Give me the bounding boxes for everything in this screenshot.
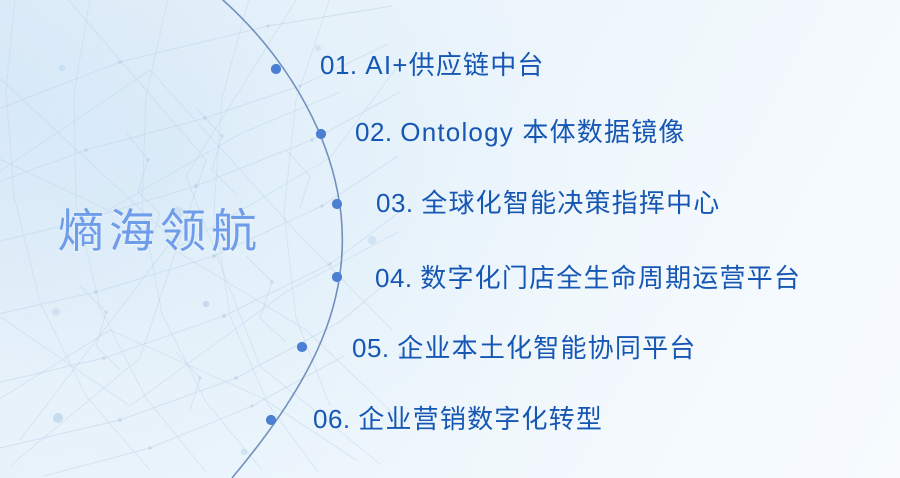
list-item[interactable]: 04. 数字化门店全生命周期运营平台 [375, 265, 801, 291]
list-item[interactable]: 03. 全球化智能决策指挥中心 [376, 190, 720, 216]
list-item[interactable]: 05. 企业本土化智能协同平台 [352, 335, 696, 361]
list-item-label: 数字化门店全生命周期运营平台 [420, 263, 801, 293]
list-item-number: 02. [355, 117, 393, 147]
list-item[interactable]: 01. AI+供应链中台 [320, 52, 545, 78]
list-item-number: 04. [375, 263, 413, 293]
list-item-label: 企业本土化智能协同平台 [397, 333, 696, 363]
list-item[interactable]: 06. 企业营销数字化转型 [313, 406, 603, 432]
list-item-number: 05. [352, 333, 390, 363]
list-item-number: 03. [376, 188, 414, 218]
list-item-number: 06. [313, 404, 351, 434]
list-item-label: AI+供应链中台 [365, 50, 544, 80]
list-item-label: 企业营销数字化转型 [358, 404, 603, 434]
list-item[interactable]: 02. Ontology 本体数据镜像 [355, 119, 686, 145]
list-item-number: 01. [320, 50, 358, 80]
list-item-label: Ontology 本体数据镜像 [400, 117, 685, 147]
agenda-list: 01. AI+供应链中台 02. Ontology 本体数据镜像 03. 全球化… [0, 0, 900, 478]
list-item-label: 全球化智能决策指挥中心 [421, 188, 720, 218]
slide-canvas: 熵海领航 01. AI+供应链中台 02. Ontology 本体数据镜像 03… [0, 0, 900, 478]
